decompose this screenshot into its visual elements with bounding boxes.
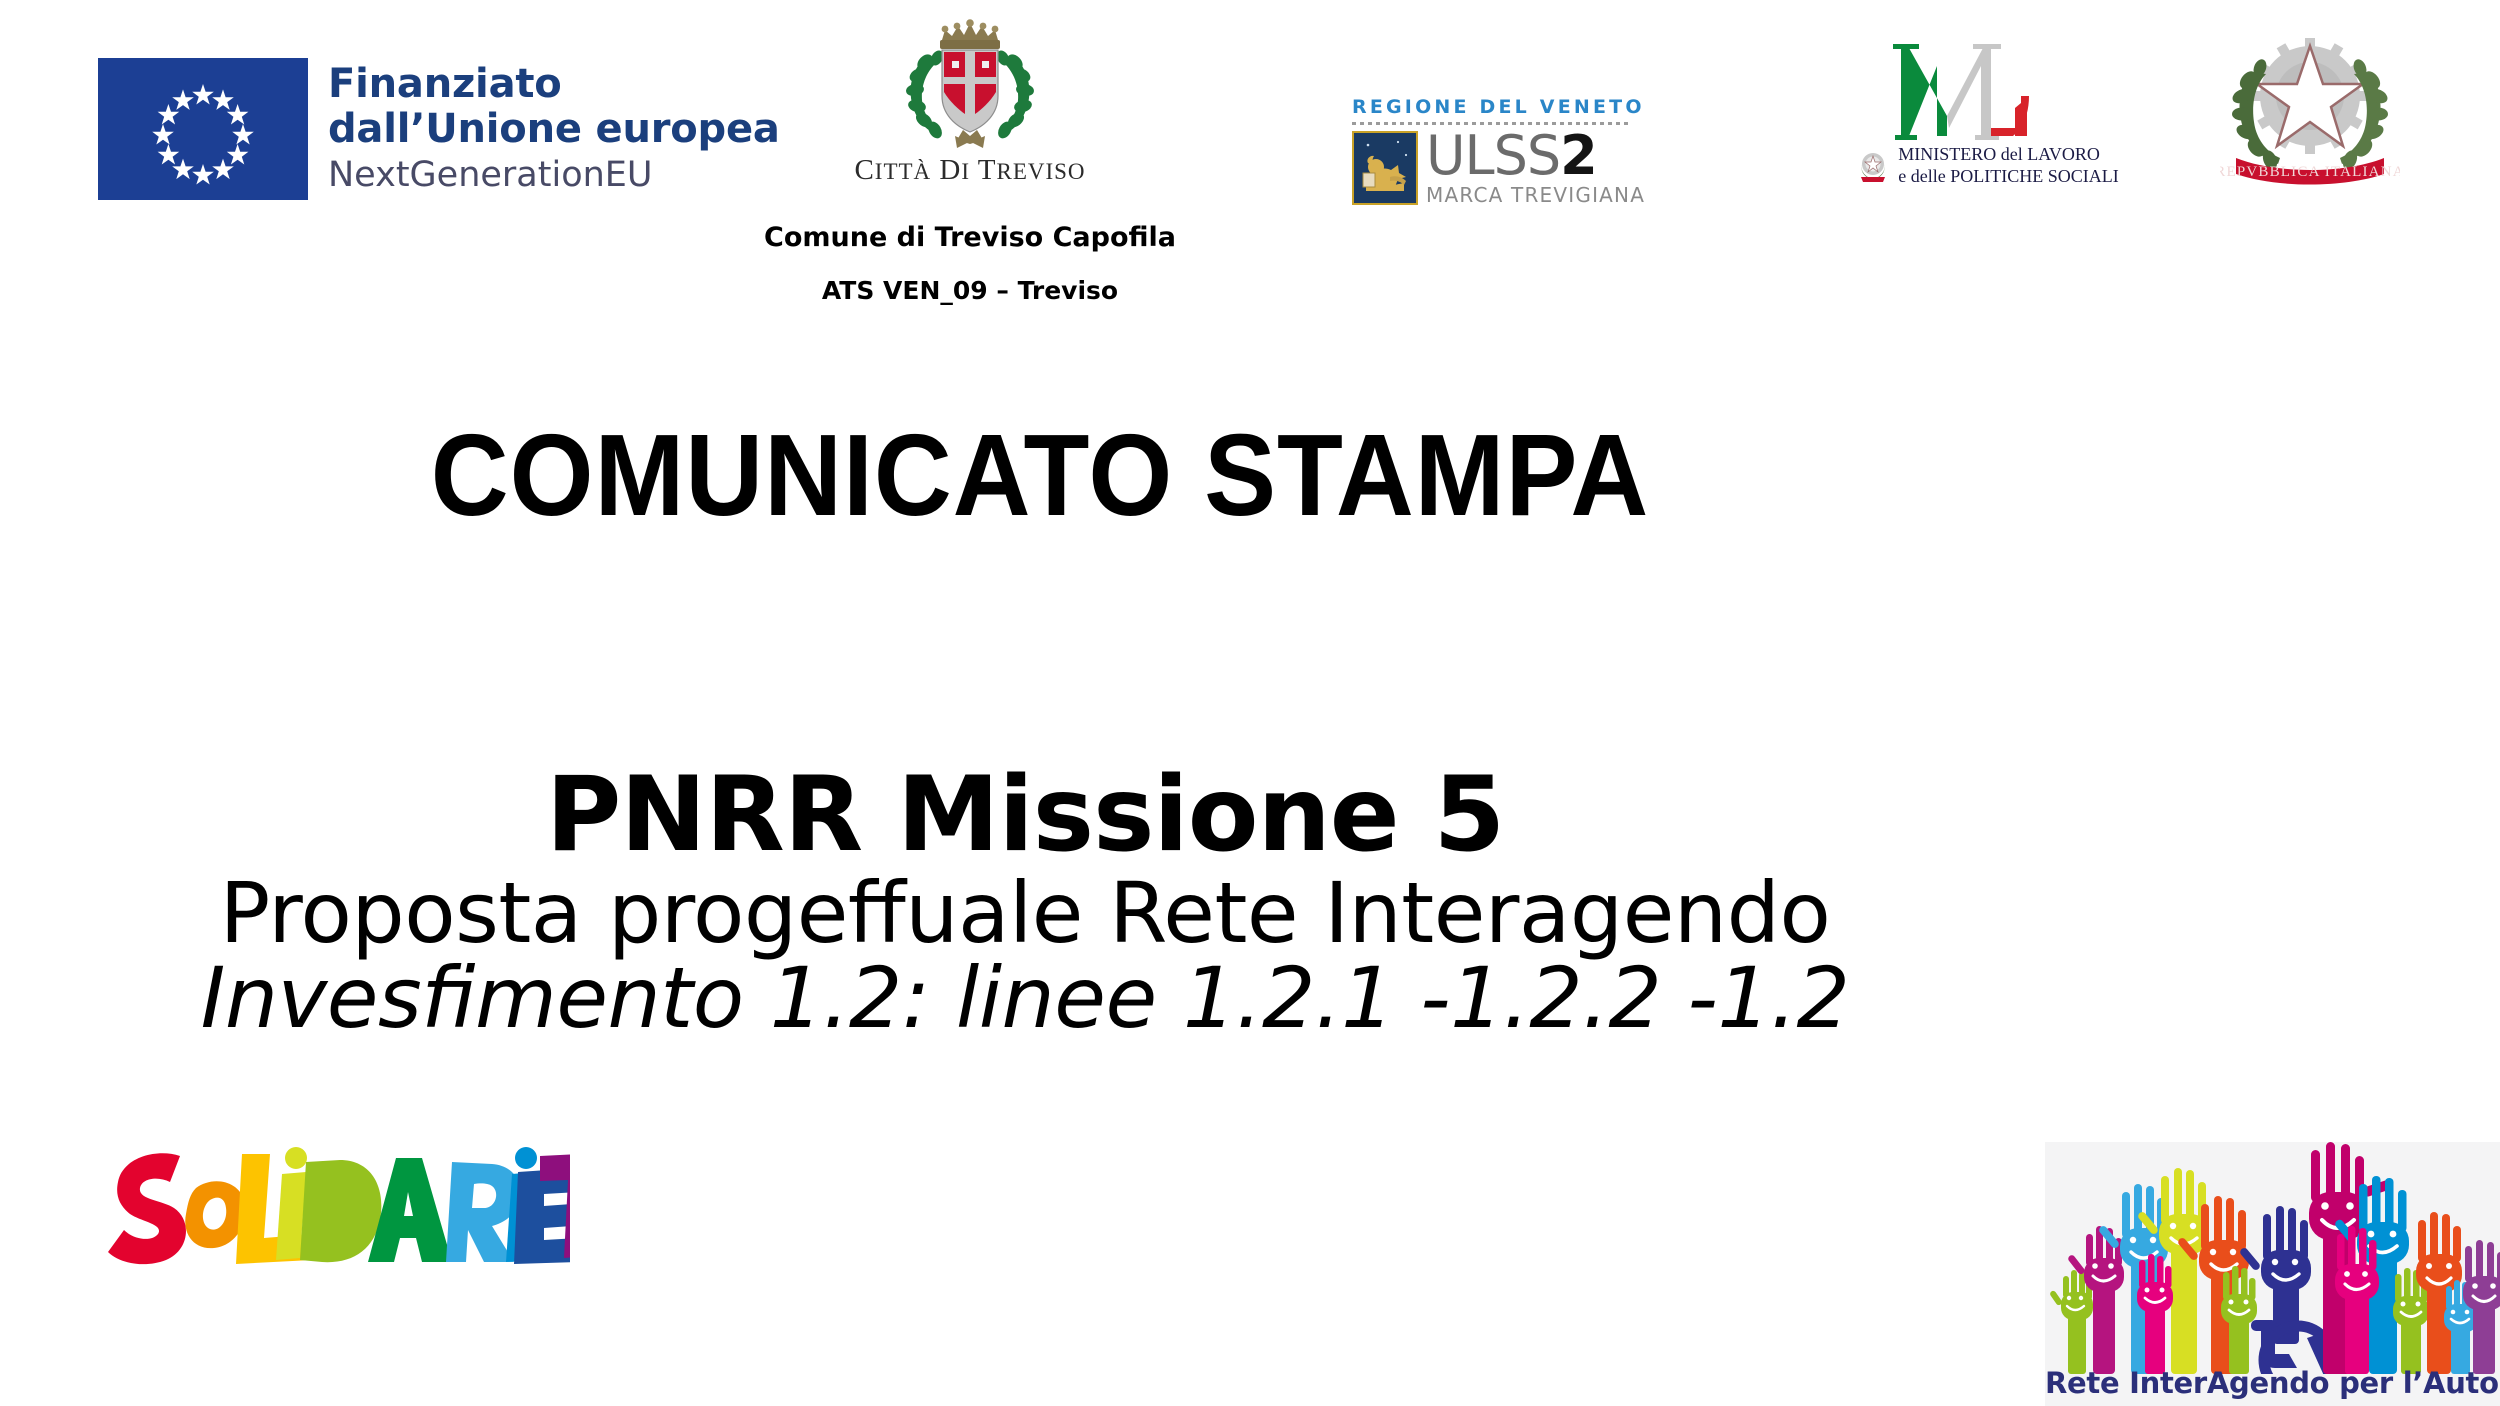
solidarieta-logo <box>100 1138 570 1278</box>
comune-capofila-label: Comune di Treviso Capofila <box>760 222 1180 253</box>
ministero-caption: MINISTERO del LAVORO e delle POLITICHE S… <box>1898 144 2118 187</box>
treviso-caption-d: D <box>939 154 961 186</box>
regione-veneto-ulss2-logo: REGIONE DEL VENETO <box>1352 96 1632 207</box>
pnrr-heading-block: PNRR Missione 5 Proposta progeﬀuale Rete… <box>0 760 2050 1044</box>
treviso-caption-text: C <box>854 154 874 186</box>
repubblica-italiana-emblem: REPVBBLICA ITALIANA <box>2210 22 2410 197</box>
ministero-del-lavoro-logo: MINISTERO del LAVORO e delle POLITICHE S… <box>1842 36 2132 187</box>
repubblica-ribbon-text: REPVBBLICA ITALIANA <box>2220 164 2400 180</box>
eu-funding-line-2: dall’Unione europea <box>328 107 780 152</box>
pnrr-proposal-subtitle: Proposta progeﬀuale Rete Interagendo <box>0 867 2050 959</box>
repubblica-emblem-small-icon <box>1855 148 1891 184</box>
eu-nextgeneration-label: NextGenerationEU <box>328 154 780 196</box>
ulss-wordmark: ULSS2 <box>1426 131 1645 182</box>
ml-monogram-icon <box>1887 36 2087 142</box>
treviso-coat-of-arms-icon <box>885 18 1055 150</box>
treviso-caption-t: T <box>978 154 997 186</box>
solidarieta-wordmark-icon <box>100 1138 570 1278</box>
ats-ven09-label: ATS VEN_09 – Treviso <box>760 276 1180 305</box>
ulss-number: 2 <box>1560 124 1597 187</box>
eu-funding-line-1: Finanziato <box>328 62 780 107</box>
lion-of-saint-mark-icon <box>1352 131 1418 205</box>
citta-di-treviso-logo: CITTÀ DI TREVISO <box>760 18 1180 187</box>
repubblica-italiana-icon: REPVBBLICA ITALIANA <box>2220 22 2400 192</box>
ministero-caption-line-2: e delle POLITICHE SOCIALI <box>1898 166 2118 188</box>
ministero-caption-line-1: MINISTERO del LAVORO <box>1898 144 2118 166</box>
marca-trevigiana-label: MARCA TREVIGIANA <box>1426 183 1645 207</box>
pnrr-mission-heading: PNRR Missione 5 <box>0 760 2050 871</box>
rete-interagendo-caption: Rete InterAgendo per l’Autonomia <box>2045 1366 2500 1400</box>
european-union-funding-logo: Finanziato dall’Unione europea NextGener… <box>96 56 780 202</box>
treviso-caption-itta: ITTÀ <box>875 159 931 184</box>
pnrr-investment-subtitle: Invesﬁmento 1.2: linee 1.2.1 -1.2.2 -1.2 <box>0 952 2050 1044</box>
treviso-caption: CITTÀ DI TREVISO <box>760 154 1180 187</box>
treviso-caption-reviso: REVISO <box>996 159 1085 184</box>
regione-del-veneto-label: REGIONE DEL VENETO <box>1352 96 1632 118</box>
eu-flag-icon <box>96 56 310 202</box>
rete-interagendo-logo: Rete InterAgendo per l’Autonomia <box>2045 1142 2500 1406</box>
press-release-slide: Finanziato dall’Unione europea NextGener… <box>0 0 2500 1406</box>
press-release-title: COMUNICATO STAMPA <box>73 412 2007 540</box>
treviso-caption-i: I <box>961 159 970 184</box>
institutional-logo-bar: Finanziato dall’Unione europea NextGener… <box>0 0 2500 310</box>
eu-logo-text: Finanziato dall’Unione europea NextGener… <box>328 62 780 196</box>
ulss-acronym: ULSS <box>1426 124 1560 187</box>
